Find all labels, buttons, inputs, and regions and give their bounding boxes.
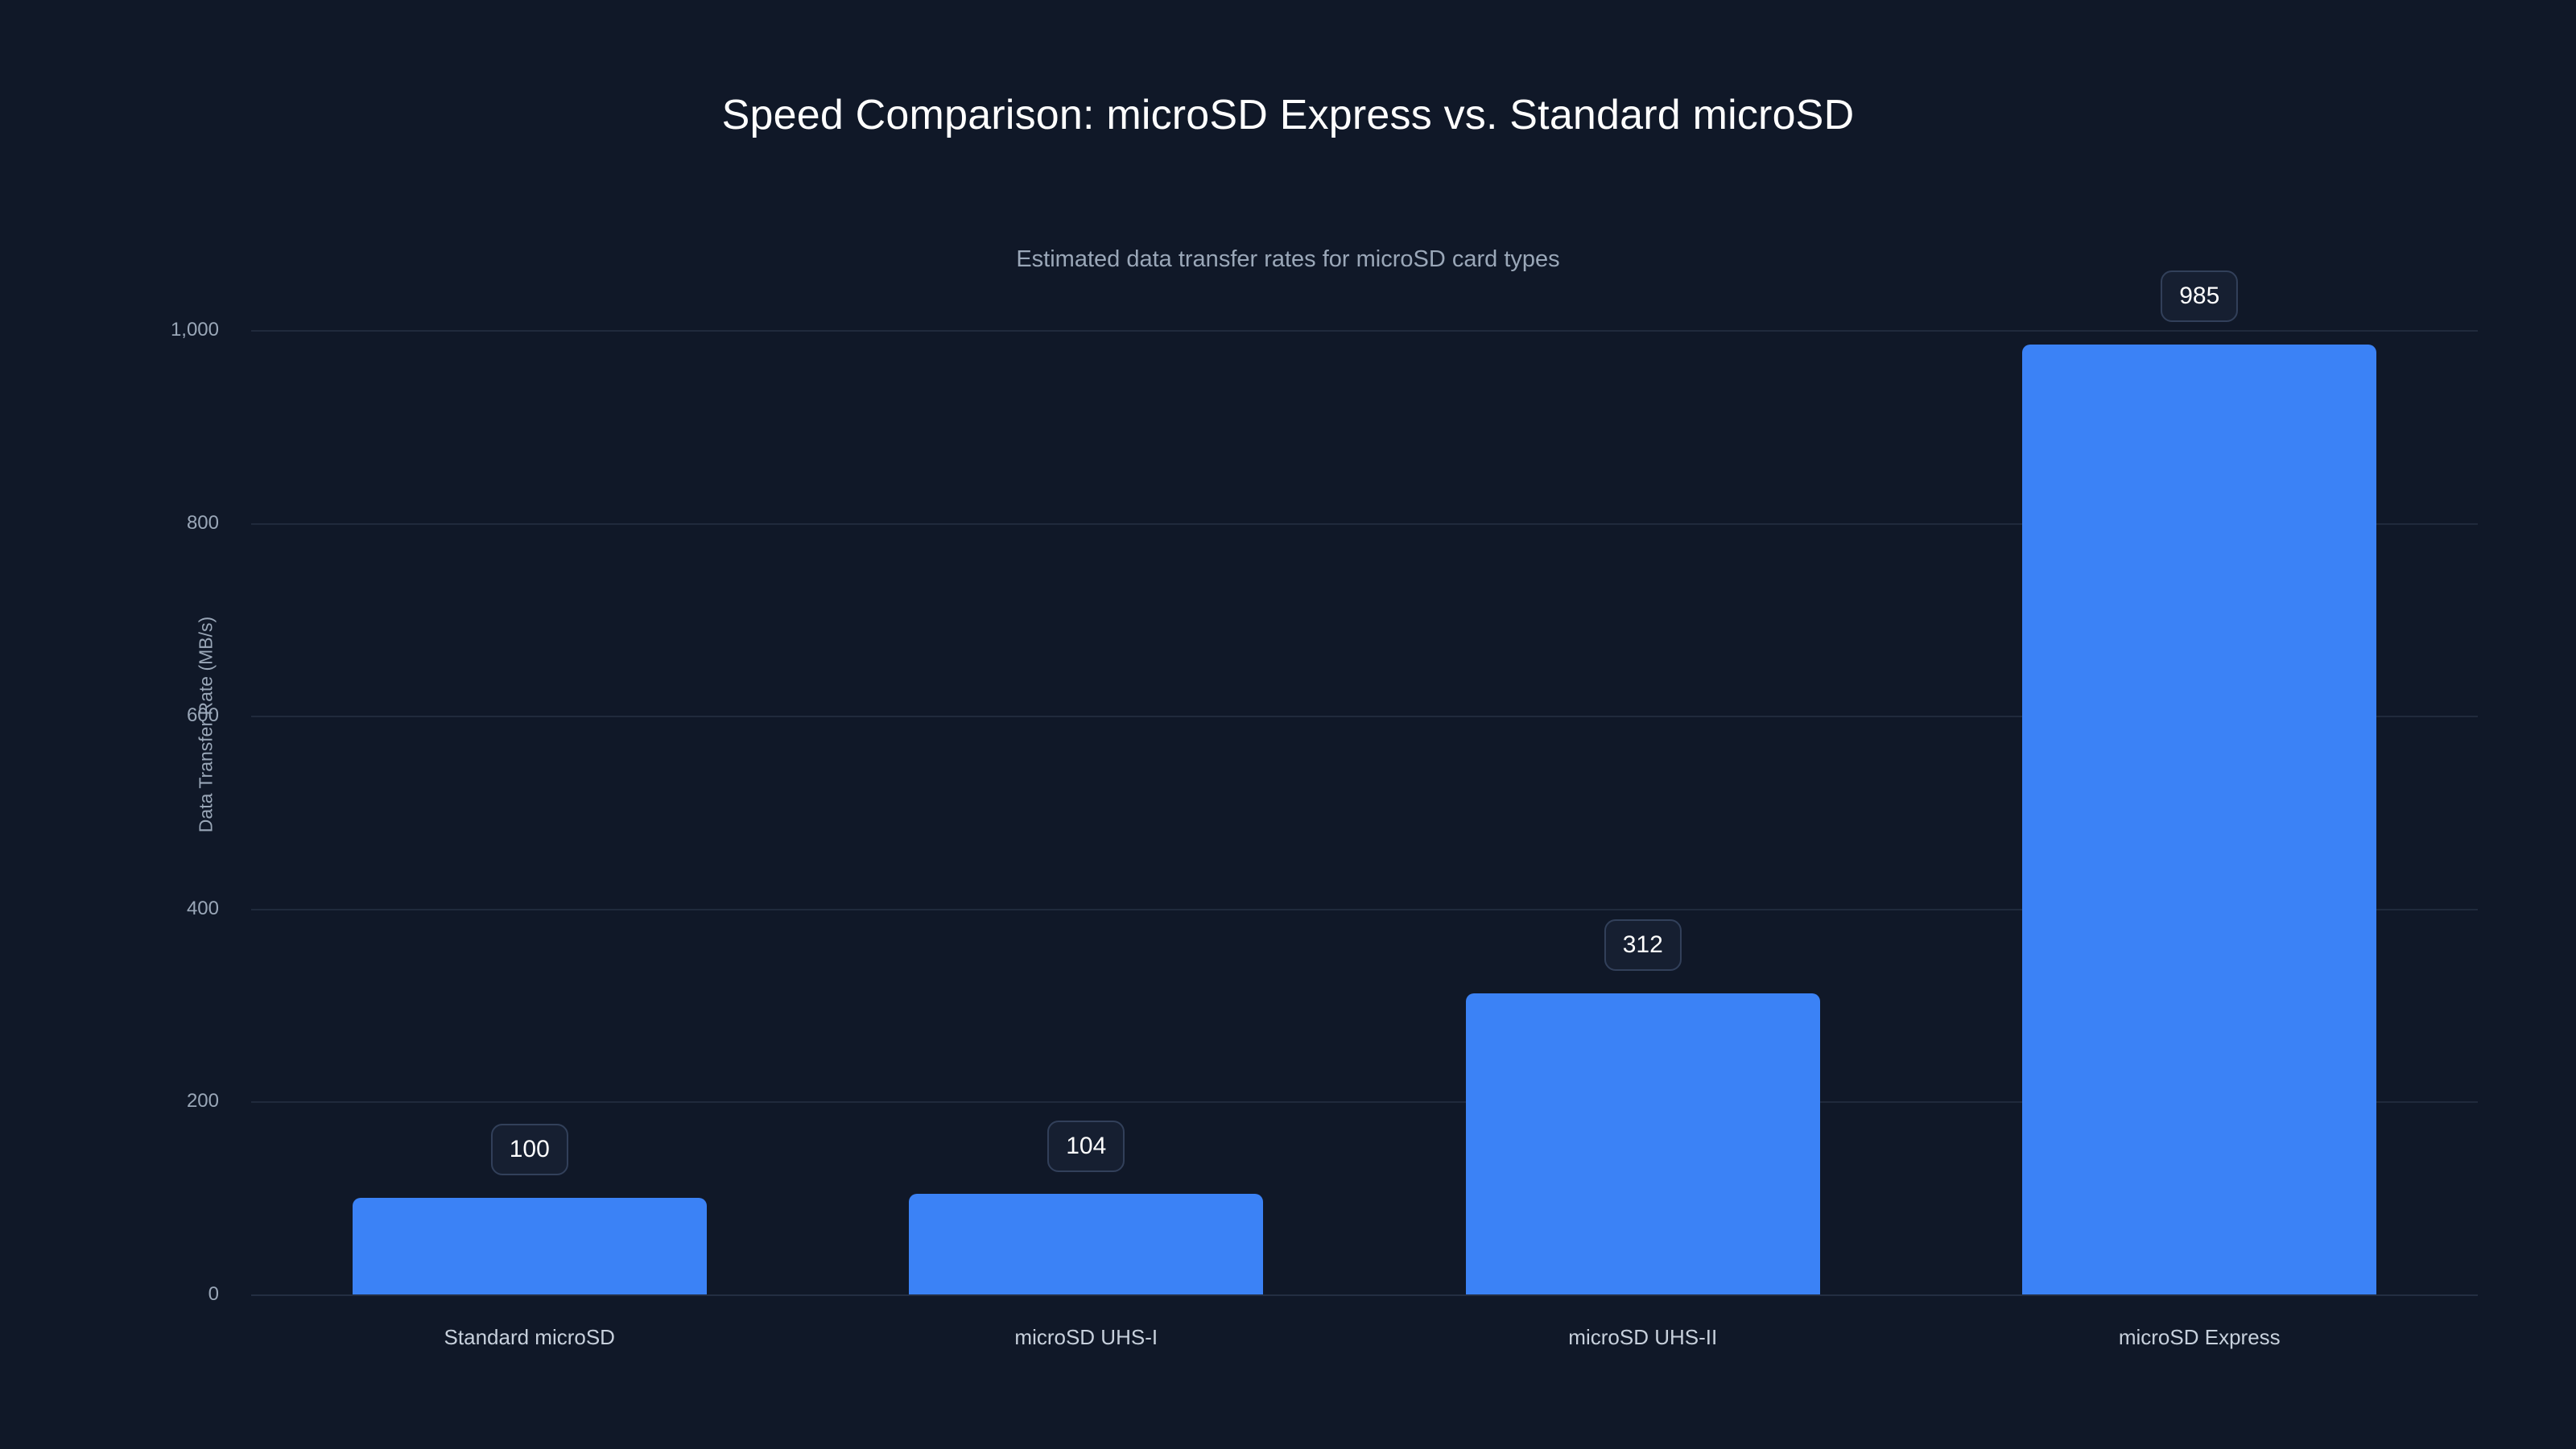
- y-tick-label-600: 600: [90, 706, 219, 725]
- x-label-standard-microsd: Standard microSD: [444, 1327, 615, 1348]
- bar-group: 100 104 312 985: [251, 330, 2478, 1294]
- gridline-0: [251, 1294, 2478, 1296]
- y-tick-label-0: 0: [90, 1285, 219, 1304]
- bar-microsd-express[interactable]: [2022, 345, 2376, 1294]
- y-tick-label-200: 200: [90, 1092, 219, 1111]
- x-label-microsd-express: microSD Express: [2119, 1327, 2281, 1348]
- bar-value-microsd-uhs-ii: 312: [1604, 919, 1682, 971]
- y-tick-label-400: 400: [90, 899, 219, 919]
- bar-value-microsd-uhs-i: 104: [1047, 1121, 1125, 1172]
- bar-slot-microsd-uhs-i: 104: [808, 330, 1365, 1294]
- bar-chart-card: Speed Comparison: microSD Express vs. St…: [0, 0, 2576, 1449]
- bar-slot-microsd-express: 985: [1922, 330, 2479, 1294]
- x-label-microsd-uhs-i: microSD UHS-I: [1014, 1327, 1158, 1348]
- bar-slot-standard-microsd: 100: [251, 330, 808, 1294]
- y-tick-label-1000: 1,000: [90, 320, 219, 340]
- bar-microsd-uhs-i[interactable]: [909, 1194, 1263, 1294]
- x-axis-labels: Standard microSD microSD UHS-I microSD U…: [251, 1327, 2478, 1359]
- bar-standard-microsd[interactable]: [353, 1198, 707, 1294]
- x-label-microsd-uhs-ii: microSD UHS-II: [1568, 1327, 1717, 1348]
- chart-subtitle: Estimated data transfer rates for microS…: [0, 246, 2576, 274]
- bar-value-microsd-express: 985: [2161, 270, 2238, 322]
- bar-slot-microsd-uhs-ii: 312: [1364, 330, 1922, 1294]
- bar-microsd-uhs-ii[interactable]: [1466, 993, 1820, 1294]
- bar-value-standard-microsd: 100: [491, 1124, 568, 1175]
- y-tick-label-800: 800: [90, 514, 219, 533]
- chart-title: Speed Comparison: microSD Express vs. St…: [0, 90, 2576, 140]
